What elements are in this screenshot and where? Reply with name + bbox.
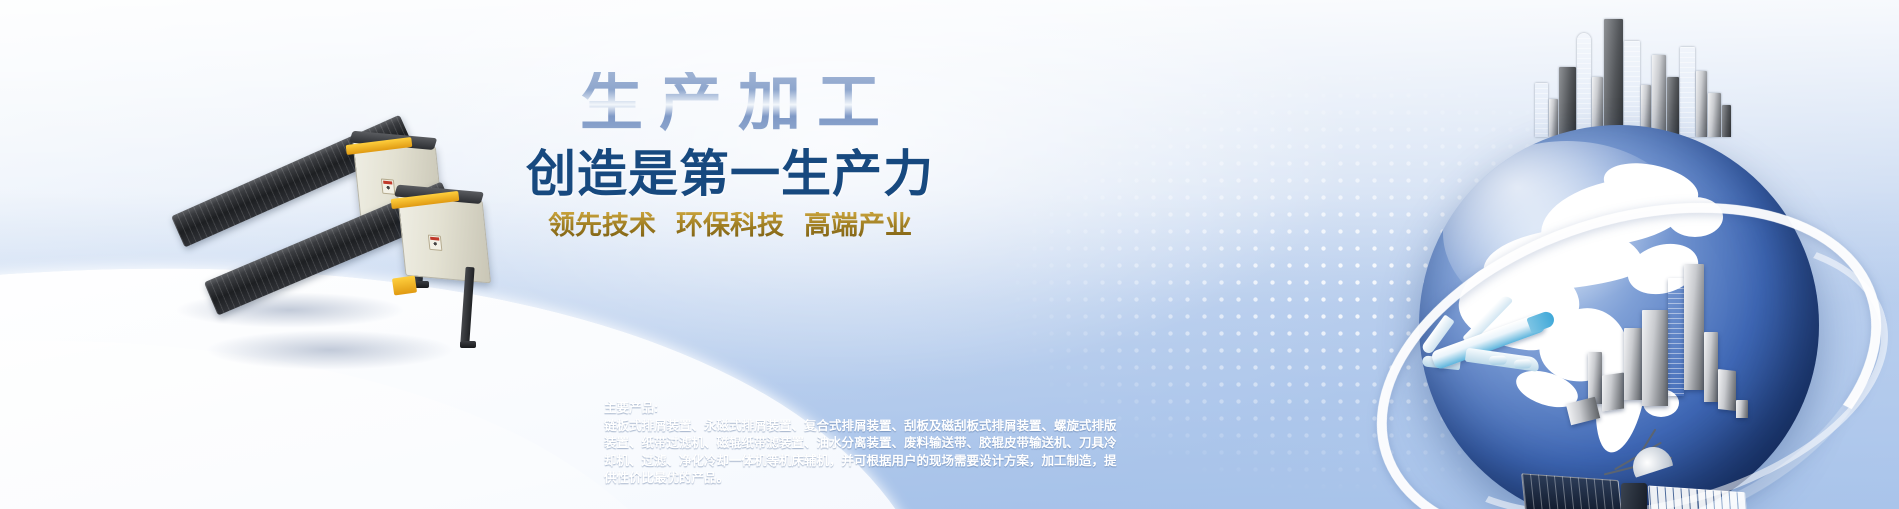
machine-foot-2 (460, 341, 476, 348)
satellite-solar-panel-right (1648, 485, 1749, 509)
product-description-lead: 主要产品: (604, 400, 1144, 418)
skyline-tower (1535, 83, 1548, 137)
satellite-icon (1529, 425, 1739, 509)
skyline-tower (1549, 99, 1558, 137)
banner-text-block: 生产加工 生产加工 创造是第一生产力 领先技术环保科技高端产业 (495, 72, 965, 239)
skyline-tower (1708, 93, 1721, 137)
tagline-row: 领先技术环保科技高端产业 (495, 212, 965, 239)
product-description-line-2: 装置、纸带过滤机、磁辊纸带滤装置、油水分离装置、废料输送带、胶辊皮带输送机、刀具… (604, 435, 1144, 453)
amber-motor-box-2 (392, 275, 417, 295)
product-description: 主要产品: 链板式排屑装置、永磁式排屑装置、复合式排屑装置、刮板及磁刮板式排屑装… (604, 400, 1144, 488)
tagline-item-1: 领先技术 (548, 210, 656, 240)
chip-conveyor-machine-2 (205, 175, 515, 375)
product-description-line-4: 供性价比最优的产品。 (604, 470, 1144, 488)
globe-graphic (1379, 95, 1849, 509)
plane-engine-1 (1489, 355, 1507, 365)
tagline-item-3: 高端产业 (804, 210, 912, 240)
skyline-tower (1577, 33, 1591, 137)
skyline-tower (1680, 47, 1695, 137)
plane-engine-2 (1514, 359, 1532, 369)
product-description-line-3: 却机、过滤、净化冷却一体机等机床辅机，并可根据用户的现场需要设计方案，加工制造，… (604, 453, 1144, 471)
skyline-tower (1652, 55, 1666, 137)
promo-banner: 生产加工 生产加工 创造是第一生产力 领先技术环保科技高端产业 主要产品: 链板… (0, 0, 1899, 509)
page-title: 生产加工 (495, 72, 965, 135)
skyline-tower (1667, 77, 1679, 137)
city-skyline-graphic (1529, 7, 1749, 137)
plane-nose (1526, 310, 1556, 334)
skyline-tower (1559, 67, 1576, 137)
warning-label-2 (428, 235, 442, 251)
skyline-tower (1604, 19, 1623, 137)
skyline-tower (1696, 71, 1707, 137)
satellite-solar-panel-left (1521, 473, 1623, 509)
skyline-tower (1624, 41, 1640, 137)
subheadline: 创造是第一生产力 (495, 149, 965, 199)
skyline-tower (1722, 105, 1731, 137)
tagline-item-2: 环保科技 (676, 210, 784, 240)
satellite-body (1621, 483, 1647, 509)
product-description-line-1: 链板式排屑装置、永磁式排屑装置、复合式排屑装置、刮板及磁刮板式排屑装置、螺旋式排… (604, 418, 1144, 436)
